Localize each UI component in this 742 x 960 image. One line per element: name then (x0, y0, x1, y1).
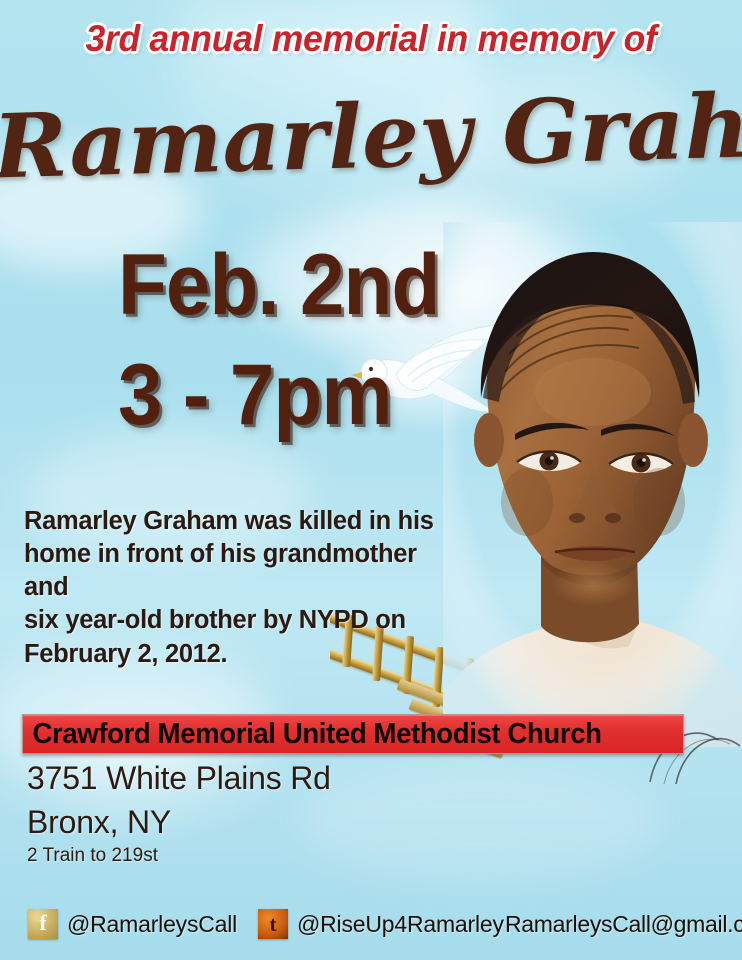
address-line-1: 3751 White Plains Rd (27, 760, 331, 797)
venue-name: Crawford Memorial United Methodist Churc… (23, 718, 602, 751)
twitter-contact[interactable]: t @RiseUp4Ramarley (258, 909, 504, 939)
memorial-flyer: 3rd annual memorial in memory of Ramarle… (0, 0, 742, 960)
facebook-contact[interactable]: f @RamarleysCall (28, 909, 237, 939)
facebook-icon[interactable]: f (28, 909, 58, 939)
page-title: 3rd annual memorial in memory of (15, 18, 727, 60)
portrait-photo-of-ramarley-graham (443, 222, 742, 747)
transit-directions: 2 Train to 219st (27, 845, 158, 867)
venue-banner: Crawford Memorial United Methodist Churc… (22, 714, 684, 754)
cloud (300, 760, 660, 880)
event-description: Ramarley Graham was killed in his home i… (24, 505, 454, 671)
facebook-handle[interactable]: @RamarleysCall (67, 911, 237, 938)
email-address[interactable]: RamarleysCall@gmail.com (505, 911, 742, 938)
email-contact[interactable]: RamarleysCall@gmail.com (505, 911, 742, 938)
event-time: 3 - 7pm (118, 353, 392, 437)
description-line: home in front of his grandmother and (24, 538, 454, 604)
address-line-2: Bronx, NY (27, 804, 171, 841)
description-line: six year-old brother by NYPD on (24, 604, 454, 637)
footer-social-bar: f @RamarleysCall t @RiseUp4Ramarley Rama… (0, 896, 742, 952)
twitter-icon[interactable]: t (258, 909, 288, 939)
honoree-name: Ramarley Graham (0, 81, 742, 190)
description-line: Ramarley Graham was killed in his (24, 505, 454, 538)
twitter-handle[interactable]: @RiseUp4Ramarley (297, 911, 504, 938)
description-line: February 2, 2012. (24, 638, 454, 671)
event-date: Feb. 2nd (118, 243, 439, 327)
